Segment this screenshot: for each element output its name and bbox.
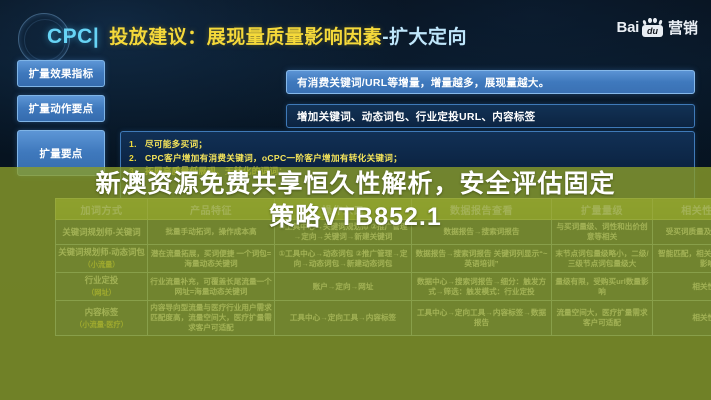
cell-relevance: 相关性高 <box>653 301 711 336</box>
cell-feature: 潜在流量拓展，买词便捷 一个词包=海量动态关键词 <box>148 245 275 273</box>
cell-method-sub: （小流量） <box>58 259 145 270</box>
cell-entry: ①工具中心→关键词规划师 ②推广管理→定向→关键词→新建关键词 <box>275 220 412 245</box>
key-point-list: 1.尽可能多买词； 2.CPC客户增加有消费关键词，oCPC一阶客户增加有转化关… <box>129 138 686 179</box>
list-item-text: CPC客户增加有消费关键词，oCPC一阶客户增加有转化关键词； <box>145 152 402 165</box>
expansion-method-table: 加词方式 产品特征 操作入口 数据报告查看 扩量量级 相关性情况 关键词规划师-… <box>55 198 711 336</box>
baidu-bear-paw-icon: du <box>641 18 664 37</box>
list-item-number: 1. <box>129 138 145 151</box>
rail-item-key-point[interactable]: 扩量要点 <box>17 130 105 176</box>
cell-method-label: 关键词规划师-动态词包 <box>58 247 145 257</box>
logo-suffix-text: 营销 <box>668 17 698 38</box>
cell-report: 数据中心→搜索词报告→细分：触发方式→筛选：触发模式：行业定投 <box>412 273 552 301</box>
table-header-cell: 数据报告查看 <box>412 199 552 220</box>
table-row: 关键词规划师-动态词包（小流量） 潜在流量拓展，买词便捷 一个词包=海量动态关键… <box>56 245 711 273</box>
logo-bai-text: Bai <box>617 19 639 36</box>
table-row: 行业定投（网址） 行业流量补充，可覆盖长尾流量一个网址=海量动态关键词 账户→定… <box>56 273 711 301</box>
cell-method-label: 行业定投 <box>85 275 119 285</box>
table-header-cell: 加词方式 <box>56 199 148 220</box>
title-tail-text: -扩大定向 <box>382 22 467 49</box>
list-item-number: 2. <box>129 152 145 165</box>
table-header-cell: 操作入口 <box>275 199 412 220</box>
cell-method: 内容标签（小流量-医疗） <box>56 301 148 336</box>
cell-entry: 账户→定向→网址 <box>275 273 412 301</box>
slide-canvas: CPC| 投放建议：展现量质量影响因素 -扩大定向 Bai du 营销 扩量效果… <box>0 0 711 400</box>
left-rail: 扩量效果指标 扩量动作要点 扩量要点 <box>17 60 105 184</box>
panel-action-point: 增加关键词、动态词包、行业定投URL、内容标签 <box>286 104 695 128</box>
cell-scale: 与买词量级、词性和出价创意等相关 <box>552 220 653 245</box>
slide-title: CPC| 投放建议：展现量质量影响因素 -扩大定向 <box>47 22 467 49</box>
cell-method: 关键词规划师-关键词 <box>56 220 148 245</box>
cell-scale: 量级有限，受购买url数量影响 <box>552 273 653 301</box>
list-item-text: 尽可能多买词； <box>145 138 207 151</box>
cell-feature: 批量手动拓词，操作成本高 <box>148 220 275 245</box>
cell-method-label: 内容标签 <box>85 307 119 317</box>
baidu-marketing-logo: Bai du 营销 <box>617 17 698 38</box>
cell-report: 数据报告→搜索词报告 <box>412 220 552 245</box>
cell-relevance: 智能匹配，相关性受所选节点影响 <box>653 245 711 273</box>
cell-method-sub: （网址） <box>58 287 145 298</box>
table-header-cell: 产品特征 <box>148 199 275 220</box>
cell-method-label: 关键词规划师-关键词 <box>62 227 140 237</box>
logo-du-text: du <box>642 25 663 37</box>
cell-feature: 内容导向型流量与医疗行业用户需求匹配度高，流量空间大，医疗扩量需求客户可适配 <box>148 301 275 336</box>
list-item: 1.尽可能多买词； <box>129 138 686 151</box>
panel-key-points: 1.尽可能多买词； 2.CPC客户增加有消费关键词，oCPC一阶客户增加有转化关… <box>120 131 695 200</box>
list-item: 3.拓展高质量低展现、无转化的词词； <box>129 165 686 178</box>
rail-item-effect-metric[interactable]: 扩量效果指标 <box>17 60 105 87</box>
cell-method-sub: （小流量-医疗） <box>58 319 145 330</box>
cell-method: 关键词规划师-动态词包（小流量） <box>56 245 148 273</box>
cell-entry: ①工具中心→动态词包 ②推广管理→定向→动态词包→新建动态词包 <box>275 245 412 273</box>
cell-report: 数据报告→搜索词报告 关键词列显示“~英语培训” <box>412 245 552 273</box>
list-item-text: 拓展高质量低展现、无转化的词词； <box>145 165 287 178</box>
cell-scale: 流量空间大，医疗扩量需求客户可适配 <box>552 301 653 336</box>
cell-entry: 工具中心→定向工具→内容标签 <box>275 301 412 336</box>
cell-relevance: 相关性强 <box>653 273 711 301</box>
panel-effect-metric: 有消费关键词/URL等增量，增量越多，展现量越大。 <box>286 70 695 94</box>
table-row: 关键词规划师-关键词 批量手动拓词，操作成本高 ①工具中心→关键词规划师 ②推广… <box>56 220 711 245</box>
list-item: 2.CPC客户增加有消费关键词，oCPC一阶客户增加有转化关键词； <box>129 152 686 165</box>
title-brand-tag: CPC| <box>47 25 99 49</box>
table-header-cell: 扩量量级 <box>552 199 653 220</box>
cell-method: 行业定投（网址） <box>56 273 148 301</box>
table-row: 内容标签（小流量-医疗） 内容导向型流量与医疗行业用户需求匹配度高，流量空间大，… <box>56 301 711 336</box>
table-header-cell: 相关性情况 <box>653 199 711 220</box>
table-header-row: 加词方式 产品特征 操作入口 数据报告查看 扩量量级 相关性情况 <box>56 199 711 220</box>
list-item-number: 3. <box>129 165 145 178</box>
cell-scale: 末节点词包量级略小，二级/三级节点词包量级大 <box>552 245 653 273</box>
cell-relevance: 受买词质量及词性的影响 <box>653 220 711 245</box>
cell-feature: 行业流量补充，可覆盖长尾流量一个网址=海量动态关键词 <box>148 273 275 301</box>
rail-item-action-point[interactable]: 扩量动作要点 <box>17 95 105 122</box>
title-main-text: 投放建议：展现量质量影响因素 <box>109 22 382 49</box>
cell-report: 工具中心→定向工具→内容标签→数据报告 <box>412 301 552 336</box>
